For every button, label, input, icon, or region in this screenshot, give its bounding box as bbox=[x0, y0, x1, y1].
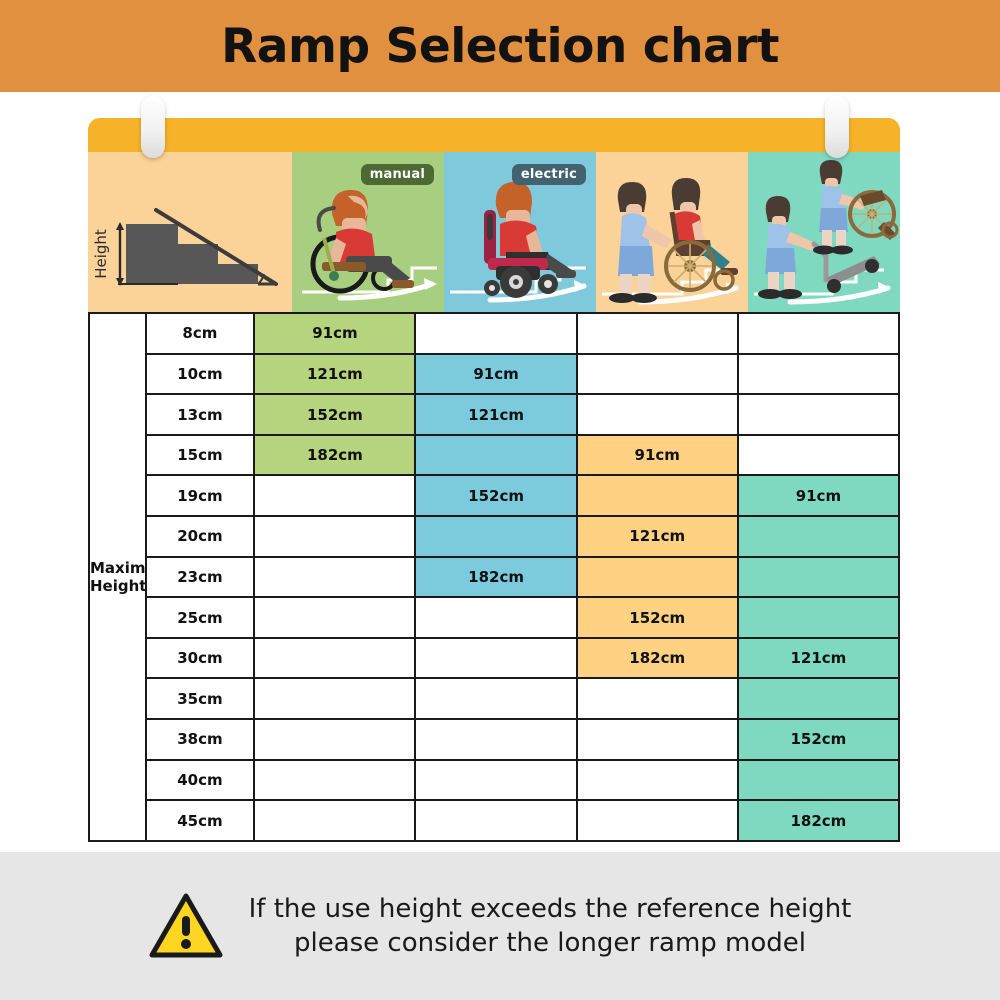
table-row: 35cm bbox=[89, 678, 899, 719]
table-row: 38cm 152cm bbox=[89, 719, 899, 760]
table-row: 15cm 182cm 91cm bbox=[89, 435, 899, 476]
table-row: 45cm 182cm bbox=[89, 800, 899, 841]
cell-manual bbox=[254, 516, 415, 557]
table-row: 30cm 182cm 121cm bbox=[89, 638, 899, 679]
cell-cart: 121cm bbox=[738, 638, 899, 679]
height-cell: 30cm bbox=[146, 638, 255, 679]
page-title: Ramp Selection chart bbox=[221, 19, 779, 74]
cell-assisted bbox=[577, 800, 738, 841]
cell-assisted bbox=[577, 475, 738, 516]
cell-cart bbox=[738, 516, 899, 557]
max-height-line-2: Height bbox=[90, 577, 146, 595]
table-row: Maximum Height 8cm 91cm bbox=[89, 313, 899, 354]
header-cell-cart bbox=[748, 152, 900, 312]
cell-electric bbox=[415, 800, 576, 841]
cell-electric: 121cm bbox=[415, 394, 576, 435]
max-height-line-1: Maximum bbox=[90, 559, 146, 577]
table-row: 25cm 152cm bbox=[89, 597, 899, 638]
cell-assisted: 152cm bbox=[577, 597, 738, 638]
height-cell: 19cm bbox=[146, 475, 255, 516]
height-cell: 45cm bbox=[146, 800, 255, 841]
badge-manual: manual bbox=[361, 164, 434, 185]
height-cell: 10cm bbox=[146, 354, 255, 395]
cell-manual bbox=[254, 638, 415, 679]
header-illustration-strip: Height bbox=[88, 152, 900, 312]
cell-electric bbox=[415, 719, 576, 760]
cell-manual: 152cm bbox=[254, 394, 415, 435]
height-cell: 13cm bbox=[146, 394, 255, 435]
table-row: 13cm 152cm 121cm bbox=[89, 394, 899, 435]
footer-line-1: If the use height exceeds the reference … bbox=[249, 892, 852, 926]
table-row: 10cm 121cm 91cm bbox=[89, 354, 899, 395]
cart-folded-wheelchair-icon bbox=[748, 152, 900, 312]
assisted-wheelchair-icon bbox=[596, 152, 748, 312]
cell-electric: 152cm bbox=[415, 475, 576, 516]
cell-assisted: 121cm bbox=[577, 516, 738, 557]
cell-cart bbox=[738, 760, 899, 801]
height-cell: 40cm bbox=[146, 760, 255, 801]
height-cell: 20cm bbox=[146, 516, 255, 557]
cell-assisted bbox=[577, 354, 738, 395]
cell-assisted bbox=[577, 394, 738, 435]
cell-assisted bbox=[577, 313, 738, 354]
cell-manual bbox=[254, 597, 415, 638]
cell-cart: 152cm bbox=[738, 719, 899, 760]
table-body: Maximum Height 8cm 91cm 10cm 121cm 91cm … bbox=[89, 313, 899, 841]
cell-manual bbox=[254, 678, 415, 719]
cell-manual bbox=[254, 800, 415, 841]
cell-manual bbox=[254, 719, 415, 760]
cell-manual bbox=[254, 557, 415, 598]
cell-electric bbox=[415, 678, 576, 719]
height-cell: 38cm bbox=[146, 719, 255, 760]
cell-cart bbox=[738, 597, 899, 638]
hanging-clip-right-icon bbox=[825, 96, 849, 158]
table-row: 19cm 152cm 91cm bbox=[89, 475, 899, 516]
board-top-bar bbox=[88, 118, 900, 152]
cell-cart bbox=[738, 557, 899, 598]
row-header-maximum-height: Maximum Height bbox=[89, 313, 146, 841]
cell-electric bbox=[415, 516, 576, 557]
cell-electric bbox=[415, 435, 576, 476]
header-cell-assisted bbox=[596, 152, 748, 312]
footer-line-2: please consider the longer ramp model bbox=[249, 926, 852, 960]
header-cell-electric: electric bbox=[444, 152, 596, 312]
footer-note: If the use height exceeds the reference … bbox=[0, 852, 1000, 1000]
cell-cart: 182cm bbox=[738, 800, 899, 841]
table-row: 20cm 121cm bbox=[89, 516, 899, 557]
cell-electric bbox=[415, 760, 576, 801]
cell-assisted bbox=[577, 719, 738, 760]
table-row: 40cm bbox=[89, 760, 899, 801]
height-cell: 35cm bbox=[146, 678, 255, 719]
stairs-ramp-icon: Height bbox=[88, 152, 292, 312]
cell-manual bbox=[254, 475, 415, 516]
cell-assisted: 182cm bbox=[577, 638, 738, 679]
height-cell: 15cm bbox=[146, 435, 255, 476]
cell-electric: 91cm bbox=[415, 354, 576, 395]
cell-cart bbox=[738, 354, 899, 395]
table-row: 23cm 182cm bbox=[89, 557, 899, 598]
badge-electric: electric bbox=[512, 164, 586, 185]
warning-triangle-icon bbox=[149, 892, 223, 960]
chart-board: Height bbox=[88, 118, 900, 842]
cell-assisted: 91cm bbox=[577, 435, 738, 476]
cell-assisted bbox=[577, 760, 738, 801]
footer-text: If the use height exceeds the reference … bbox=[249, 892, 852, 961]
cell-electric: 182cm bbox=[415, 557, 576, 598]
cell-electric bbox=[415, 313, 576, 354]
height-cell: 8cm bbox=[146, 313, 255, 354]
title-banner: Ramp Selection chart bbox=[0, 0, 1000, 92]
hanging-clip-left-icon bbox=[141, 96, 165, 158]
cell-assisted bbox=[577, 557, 738, 598]
cell-cart bbox=[738, 313, 899, 354]
header-cell-manual: manual bbox=[292, 152, 444, 312]
cell-manual: 121cm bbox=[254, 354, 415, 395]
height-axis-label: Height bbox=[92, 229, 110, 279]
cell-manual: 91cm bbox=[254, 313, 415, 354]
cell-electric bbox=[415, 597, 576, 638]
height-cell: 25cm bbox=[146, 597, 255, 638]
cell-cart: 91cm bbox=[738, 475, 899, 516]
cell-manual: 182cm bbox=[254, 435, 415, 476]
cell-electric bbox=[415, 638, 576, 679]
cell-cart bbox=[738, 394, 899, 435]
ramp-selection-table: Maximum Height 8cm 91cm 10cm 121cm 91cm … bbox=[88, 312, 900, 842]
cell-cart bbox=[738, 435, 899, 476]
cell-assisted bbox=[577, 678, 738, 719]
cell-cart bbox=[738, 678, 899, 719]
header-cell-stairs-diagram: Height bbox=[88, 152, 292, 312]
cell-manual bbox=[254, 760, 415, 801]
height-cell: 23cm bbox=[146, 557, 255, 598]
